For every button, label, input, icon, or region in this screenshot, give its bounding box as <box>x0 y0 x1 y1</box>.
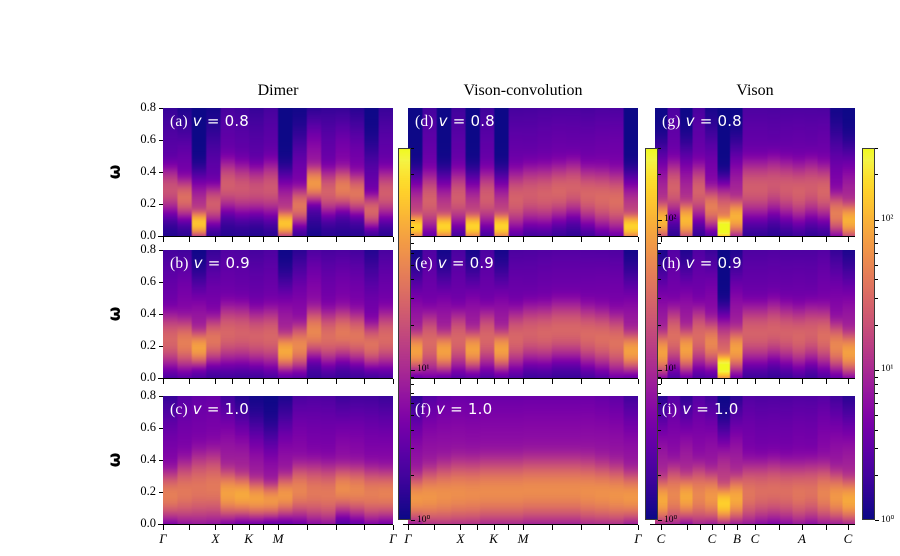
y-tick-label: 0.2 <box>124 196 156 211</box>
colorbar-minor-tick <box>411 520 415 521</box>
panel-variable: v <box>193 112 202 130</box>
x-tick-mark <box>802 237 803 242</box>
colorbar-minor-tick <box>411 227 414 228</box>
x-tick-label: C <box>834 531 862 547</box>
colorbar-minor-tick <box>658 265 661 266</box>
x-tick-mark <box>408 525 409 530</box>
panel-letter: (h) <box>662 255 681 272</box>
x-tick-mark <box>552 237 553 242</box>
x-tick-label: C <box>741 531 769 547</box>
colorbar-minor-tick <box>411 243 414 244</box>
panel-value: 0.8 <box>470 112 494 130</box>
x-tick-mark <box>609 237 610 242</box>
colorbar-minor-tick <box>658 393 661 394</box>
x-tick-mark <box>802 525 803 530</box>
x-tick-mark <box>523 525 524 530</box>
panel-value: 0.9 <box>225 254 249 272</box>
panel-equals: = <box>452 254 465 272</box>
y-tick-label: 0.6 <box>124 132 156 147</box>
x-tick-mark <box>724 379 725 384</box>
colorbar-minor-tick <box>411 403 414 404</box>
panel-label-h: (h) v = 0.9 <box>662 254 742 273</box>
x-tick-mark <box>434 237 435 242</box>
panel-label-e: (e) v = 0.9 <box>415 254 494 273</box>
x-tick-mark <box>336 379 337 384</box>
colorbar-minor-tick <box>658 174 661 175</box>
panel-letter: (i) <box>662 401 677 418</box>
x-tick-mark <box>826 379 827 384</box>
colorbar-minor-tick <box>658 377 661 378</box>
y-axis-label-omega: ω <box>105 449 125 471</box>
x-tick-mark <box>336 525 337 530</box>
x-tick-mark <box>278 379 279 384</box>
colorbar-minor-tick <box>875 253 878 254</box>
x-tick-mark <box>508 237 509 242</box>
x-tick-mark <box>755 237 756 242</box>
colorbar-minor-tick <box>875 148 878 149</box>
panel-letter: (c) <box>170 401 188 418</box>
colorbar-minor-tick <box>411 253 414 254</box>
x-tick-mark <box>263 237 264 242</box>
x-tick-mark <box>307 379 308 384</box>
x-tick-mark <box>263 525 264 530</box>
x-tick-mark <box>393 237 394 242</box>
x-tick-mark <box>687 525 688 530</box>
colorbar-tick-label: 10² <box>881 214 893 224</box>
x-tick-mark <box>336 237 337 242</box>
colorbar-minor-tick <box>411 415 414 416</box>
panel-letter: (f) <box>415 401 431 418</box>
panel-value: 0.8 <box>717 112 741 130</box>
colorbar-minor-tick <box>875 370 879 371</box>
colorbar-minor-tick <box>658 430 661 431</box>
column-title-vison: Vison <box>655 82 855 100</box>
x-axis-spine <box>650 524 855 525</box>
colorbar-minor-tick <box>875 415 878 416</box>
colorbar-minor-tick <box>411 325 414 326</box>
panel-equals: = <box>453 112 466 130</box>
column-title-vison-convolution: Vison-convolution <box>408 82 638 100</box>
colorbar-minor-tick <box>411 393 414 394</box>
x-tick-mark <box>687 379 688 384</box>
y-tick-label: 0.0 <box>124 370 156 385</box>
panel-variable: v <box>686 112 695 130</box>
colorbar-minor-tick <box>411 174 414 175</box>
colorbar-minor-tick <box>658 520 662 521</box>
x-tick-mark <box>700 379 701 384</box>
x-axis-spine <box>158 524 393 525</box>
y-tick-label: 0.4 <box>124 452 156 467</box>
x-tick-mark <box>249 237 250 242</box>
colorbar-minor-tick <box>411 370 415 371</box>
colorbar-cb1 <box>398 148 411 520</box>
x-tick-mark <box>494 525 495 530</box>
colorbar-minor-tick <box>875 393 878 394</box>
colorbar-tick-label: 10¹ <box>664 364 676 374</box>
colorbar-tick-label: 10¹ <box>881 364 893 374</box>
heatmap-panel-f[interactable]: (f) v = 1.0 <box>408 396 638 524</box>
x-tick-mark <box>189 525 190 530</box>
colorbar-minor-tick <box>875 377 878 378</box>
x-tick-mark <box>307 237 308 242</box>
colorbar-minor-tick <box>658 220 662 221</box>
x-axis-spine <box>403 236 638 237</box>
panel-letter: (e) <box>415 255 433 272</box>
colorbar-minor-tick <box>875 448 878 449</box>
x-tick-mark <box>434 379 435 384</box>
colorbar-minor-tick <box>875 227 878 228</box>
panel-value: 1.0 <box>468 400 492 418</box>
panel-variable: v <box>194 254 203 272</box>
panel-label-b: (b) v = 0.9 <box>170 254 250 273</box>
x-tick-mark <box>700 237 701 242</box>
colorbar-minor-tick <box>875 243 878 244</box>
panel-equals: = <box>450 400 463 418</box>
x-tick-mark <box>638 525 639 530</box>
colorbar-gradient <box>399 149 410 519</box>
colorbar-gradient <box>863 149 874 519</box>
panel-variable: v <box>439 112 448 130</box>
x-axis-spine <box>403 524 638 525</box>
x-tick-label: X <box>201 531 229 547</box>
x-tick-mark <box>523 379 524 384</box>
panel-label-c: (c) v = 1.0 <box>170 400 249 419</box>
x-tick-mark <box>434 525 435 530</box>
y-tick-label: 0.2 <box>124 484 156 499</box>
panel-label-i: (i) v = 1.0 <box>662 400 738 419</box>
colorbar-minor-tick <box>875 384 878 385</box>
x-axis-spine <box>158 378 393 379</box>
heatmap-panel-c[interactable]: (c) v = 1.0 <box>163 396 393 524</box>
x-tick-mark <box>638 237 639 242</box>
colorbar-minor-tick <box>875 265 878 266</box>
x-tick-mark <box>826 237 827 242</box>
panel-variable: v <box>682 400 691 418</box>
panel-label-g: (g) v = 0.8 <box>662 112 742 131</box>
x-tick-mark <box>737 525 738 530</box>
colorbar-minor-tick <box>411 377 414 378</box>
heatmap-panel-h[interactable]: (h) v = 0.9 <box>655 250 855 378</box>
y-tick-label: 0.8 <box>124 100 156 115</box>
x-tick-mark <box>724 525 725 530</box>
colorbar-minor-tick <box>411 148 414 149</box>
colorbar-cb2 <box>645 148 658 520</box>
colorbar-minor-tick <box>658 325 661 326</box>
x-tick-mark <box>724 237 725 242</box>
x-tick-label: A <box>788 531 816 547</box>
colorbar-tick-label: 10⁰ <box>881 514 894 525</box>
x-tick-mark <box>755 379 756 384</box>
x-tick-mark <box>460 237 461 242</box>
colorbar-minor-tick <box>875 298 878 299</box>
colorbar-minor-tick <box>658 415 661 416</box>
colorbar-minor-tick <box>875 475 878 476</box>
colorbar-minor-tick <box>658 384 661 385</box>
colorbar-minor-tick <box>875 403 878 404</box>
x-tick-mark <box>661 525 662 530</box>
x-tick-mark <box>609 379 610 384</box>
x-tick-mark <box>712 379 713 384</box>
colorbar-tick-label: 10⁰ <box>664 514 677 525</box>
panel-variable: v <box>436 400 445 418</box>
x-tick-mark <box>364 525 365 530</box>
colorbar-minor-tick <box>658 227 661 228</box>
x-tick-mark <box>163 237 164 242</box>
x-tick-mark <box>307 525 308 530</box>
panel-value: 1.0 <box>225 400 249 418</box>
colorbar-minor-tick <box>658 279 661 280</box>
colorbar-minor-tick <box>658 403 661 404</box>
y-tick-label: 0.4 <box>124 164 156 179</box>
x-tick-mark <box>779 379 780 384</box>
x-tick-label: X <box>446 531 474 547</box>
colorbar-minor-tick <box>411 430 414 431</box>
x-tick-mark <box>552 525 553 530</box>
heatmap-panel-e[interactable]: (e) v = 0.9 <box>408 250 638 378</box>
colorbar-minor-tick <box>658 298 661 299</box>
panel-equals: = <box>700 112 713 130</box>
x-tick-mark <box>364 237 365 242</box>
colorbar-minor-tick <box>411 220 415 221</box>
colorbar-minor-tick <box>411 279 414 280</box>
colorbar-minor-tick <box>411 265 414 266</box>
x-tick-mark <box>232 525 233 530</box>
y-axis-label-omega: ω <box>105 161 125 183</box>
colorbar-minor-tick <box>875 234 878 235</box>
y-tick-label: 0.6 <box>124 420 156 435</box>
panel-letter: (b) <box>170 255 189 272</box>
y-tick-label: 0.6 <box>124 274 156 289</box>
panel-letter: (g) <box>662 113 681 130</box>
colorbar-minor-tick <box>658 475 661 476</box>
x-tick-mark <box>581 237 582 242</box>
x-tick-mark <box>249 525 250 530</box>
panel-variable: v <box>686 254 695 272</box>
colorbar-tick-label: 10¹ <box>417 364 429 374</box>
x-tick-mark <box>609 525 610 530</box>
x-tick-mark <box>494 237 495 242</box>
x-tick-mark <box>232 237 233 242</box>
x-tick-label: M <box>509 531 537 547</box>
panel-label-f: (f) v = 1.0 <box>415 400 492 419</box>
x-tick-mark <box>661 379 662 384</box>
panel-value: 0.9 <box>717 254 741 272</box>
x-tick-mark <box>737 237 738 242</box>
x-tick-mark <box>163 379 164 384</box>
x-tick-mark <box>189 379 190 384</box>
x-tick-mark <box>249 379 250 384</box>
colorbar-minor-tick <box>875 279 878 280</box>
y-axis-label-omega: ω <box>105 303 125 325</box>
x-tick-mark <box>581 379 582 384</box>
colorbar-tick-label: 10⁰ <box>417 514 430 525</box>
heatmap-panel-g[interactable]: (g) v = 0.8 <box>655 108 855 236</box>
panel-value: 0.8 <box>225 112 249 130</box>
x-tick-mark <box>508 525 509 530</box>
x-tick-mark <box>779 237 780 242</box>
x-tick-mark <box>278 525 279 530</box>
x-tick-mark <box>215 379 216 384</box>
colorbar-minor-tick <box>658 370 662 371</box>
x-tick-label: C <box>647 531 675 547</box>
x-axis-spine <box>403 378 638 379</box>
x-tick-mark <box>189 237 190 242</box>
y-tick-label: 0.0 <box>124 228 156 243</box>
y-tick-label: 0.8 <box>124 242 156 257</box>
y-tick-label: 0.4 <box>124 306 156 321</box>
x-tick-mark <box>263 379 264 384</box>
x-tick-label: C <box>698 531 726 547</box>
colorbar-minor-tick <box>658 243 661 244</box>
x-axis-spine <box>158 236 393 237</box>
heatmap-panel-b[interactable]: (b) v = 0.9 <box>163 250 393 378</box>
panel-equals: = <box>207 400 220 418</box>
x-axis-spine <box>650 378 855 379</box>
colorbar-minor-tick <box>875 430 878 431</box>
x-tick-mark <box>826 525 827 530</box>
panel-variable: v <box>193 400 202 418</box>
x-tick-mark <box>508 379 509 384</box>
panel-value: 1.0 <box>714 400 738 418</box>
x-tick-mark <box>460 525 461 530</box>
x-tick-label: M <box>264 531 292 547</box>
colorbar-minor-tick <box>658 234 661 235</box>
x-tick-mark <box>393 379 394 384</box>
colorbar-gradient <box>646 149 657 519</box>
heatmap-panel-i[interactable]: (i) v = 1.0 <box>655 396 855 524</box>
x-tick-mark <box>215 525 216 530</box>
colorbar-minor-tick <box>875 174 878 175</box>
panel-equals: = <box>700 254 713 272</box>
x-tick-mark <box>802 379 803 384</box>
colorbar-minor-tick <box>658 448 661 449</box>
x-tick-mark <box>477 237 478 242</box>
x-tick-mark <box>278 237 279 242</box>
panel-variable: v <box>438 254 447 272</box>
x-tick-mark <box>638 379 639 384</box>
colorbar-minor-tick <box>411 234 414 235</box>
x-tick-mark <box>460 379 461 384</box>
colorbar-minor-tick <box>411 384 414 385</box>
x-tick-mark <box>364 379 365 384</box>
panel-equals: = <box>207 112 220 130</box>
x-tick-mark <box>477 525 478 530</box>
x-tick-mark <box>232 379 233 384</box>
x-tick-mark <box>848 237 849 242</box>
x-tick-mark <box>661 237 662 242</box>
x-tick-label: K <box>480 531 508 547</box>
x-tick-mark <box>523 237 524 242</box>
x-tick-mark <box>848 379 849 384</box>
column-title-dimer: Dimer <box>163 82 393 100</box>
panel-label-d: (d) v = 0.8 <box>415 112 495 131</box>
colorbar-minor-tick <box>411 475 414 476</box>
x-tick-mark <box>494 379 495 384</box>
x-tick-mark <box>712 525 713 530</box>
panel-letter: (a) <box>170 113 188 130</box>
x-tick-mark <box>215 237 216 242</box>
panel-equals: = <box>208 254 221 272</box>
heatmap-panel-d[interactable]: (d) v = 0.8 <box>408 108 638 236</box>
x-tick-label: K <box>235 531 263 547</box>
panel-label-a: (a) v = 0.8 <box>170 112 249 131</box>
x-tick-mark <box>755 525 756 530</box>
colorbar-minor-tick <box>411 298 414 299</box>
colorbar-minor-tick <box>658 148 661 149</box>
x-tick-label: Γ <box>394 531 422 547</box>
y-tick-label: 0.2 <box>124 338 156 353</box>
colorbar-cb3 <box>862 148 875 520</box>
x-tick-mark <box>393 525 394 530</box>
x-tick-label: Γ <box>149 531 177 547</box>
colorbar-tick-label: 10² <box>664 214 676 224</box>
x-tick-mark <box>848 525 849 530</box>
x-tick-mark <box>700 525 701 530</box>
y-tick-label: 0.8 <box>124 388 156 403</box>
x-tick-mark <box>552 379 553 384</box>
panel-value: 0.9 <box>470 254 494 272</box>
x-axis-spine <box>650 236 855 237</box>
panel-equals: = <box>696 400 709 418</box>
figure-canvas: Dimer Vison-convolution Vison 0.00.20.40… <box>0 0 900 556</box>
x-tick-mark <box>687 237 688 242</box>
y-tick-label: 0.0 <box>124 516 156 531</box>
colorbar-minor-tick <box>658 253 661 254</box>
x-tick-mark <box>712 237 713 242</box>
x-tick-mark <box>779 525 780 530</box>
colorbar-minor-tick <box>875 220 879 221</box>
x-tick-mark <box>581 525 582 530</box>
colorbar-minor-tick <box>875 325 878 326</box>
x-tick-mark <box>737 379 738 384</box>
colorbar-minor-tick <box>411 448 414 449</box>
x-tick-mark <box>477 379 478 384</box>
panel-letter: (d) <box>415 113 434 130</box>
colorbar-minor-tick <box>875 520 879 521</box>
x-tick-mark <box>163 525 164 530</box>
heatmap-panel-a[interactable]: (a) v = 0.8 <box>163 108 393 236</box>
